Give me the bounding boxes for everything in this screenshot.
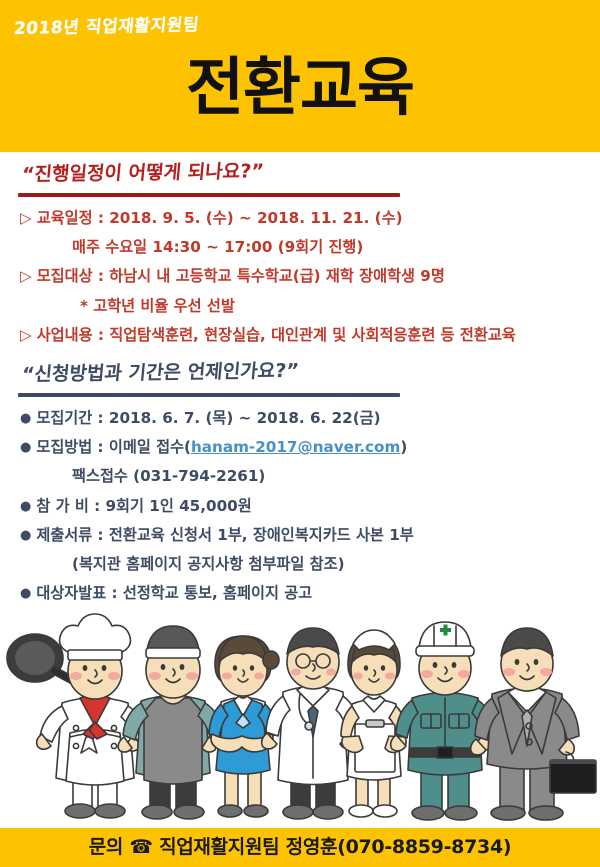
email-link[interactable]: hanam-2017@naver.com	[191, 438, 400, 456]
circle-bullet-icon: ●	[20, 587, 31, 600]
list-item: ▷교육일정 : 2018. 9. 5. (수) ~ 2018. 11. 21. …	[20, 211, 600, 226]
list-item: 매주 수요일 14:30 ~ 17:00 (9회기 진행)	[20, 240, 600, 255]
list-item: ●참 가 비 : 9회기 1인 45,000원	[20, 499, 600, 514]
section-application-lines: ●모집기간 : 2018. 6. 7. (목) ~ 2018. 6. 22(금)…	[0, 411, 600, 601]
figure-businessman	[471, 628, 596, 820]
list-item-text: 대상자발표 : 선정학교 통보, 홈페이지 공고	[36, 584, 312, 602]
list-item: ▷모집대상 : 하남시 내 고등학교 특수학교(급) 재학 장애학생 9명	[20, 269, 600, 284]
circle-bullet-icon: ●	[20, 529, 31, 542]
figure-chef	[7, 614, 146, 818]
poster-footer: 문의 ☎ 직업재활지원팀 정영훈(070-8859-8734)	[0, 828, 600, 867]
triangle-bullet-icon: ▷	[20, 211, 32, 226]
section-schedule-heading: “진행일정이 어떻게 되나요?”	[0, 152, 600, 187]
poster: 2018년 직업재활지원팀 전환교육 “진행일정이 어떻게 되나요?” ▷교육일…	[0, 0, 600, 867]
poster-header: 2018년 직업재활지원팀 전환교육	[0, 0, 600, 152]
list-item-text: * 고학년 비율 우선 선발	[80, 297, 235, 315]
list-item-text: 모집대상 : 하남시 내 고등학교 특수학교(급) 재학 장애학생 9명	[37, 267, 445, 285]
header-kicker: 2018년 직업재활지원팀	[13, 10, 201, 39]
section-application-rule	[18, 393, 400, 397]
list-item-text: 교육일정 : 2018. 9. 5. (수) ~ 2018. 11. 21. (…	[37, 209, 403, 227]
section-schedule-lines: ▷교육일정 : 2018. 9. 5. (수) ~ 2018. 11. 21. …	[0, 211, 600, 343]
figure-factory-worker	[118, 626, 223, 819]
section-schedule-rule	[18, 193, 400, 197]
list-item-email: ●모집방법 : 이메일 접수(hanam-2017@naver.com)	[20, 440, 600, 455]
list-item-text: 모집방법 : 이메일 접수(	[36, 438, 191, 456]
list-item-suffix: )	[400, 438, 407, 456]
list-item-text: 매주 수요일 14:30 ~ 17:00 (9회기 진행)	[72, 238, 363, 256]
list-item-text: (복지관 홈페이지 공지사항 첨부파일 참조)	[72, 555, 345, 573]
list-item: (복지관 홈페이지 공지사항 첨부파일 참조)	[20, 557, 600, 572]
footer-contact: 문의 ☎ 직업재활지원팀 정영훈(070-8859-8734)	[0, 828, 600, 867]
list-item: ▷사업내용 : 직업탐색훈련, 현장실습, 대인관계 및 사회적응훈련 등 전환…	[20, 328, 600, 343]
list-item-text: 참 가 비 : 9회기 1인 45,000원	[36, 497, 251, 515]
professions-illustration: .ol{stroke:#3a3a3a;stroke-width:1.6;stro…	[0, 606, 600, 831]
triangle-bullet-icon: ▷	[20, 269, 32, 284]
list-item: 팩스접수 (031-794-2261)	[20, 469, 600, 484]
section-application: “신청방법과 기간은 언제인가요?” ●모집기간 : 2018. 6. 7. (…	[0, 360, 600, 615]
list-item-text: 사업내용 : 직업탐색훈련, 현장실습, 대인관계 및 사회적응훈련 등 전환교…	[37, 326, 516, 344]
circle-bullet-icon: ●	[20, 441, 31, 454]
list-item: ●대상자발표 : 선정학교 통보, 홈페이지 공고	[20, 586, 600, 601]
circle-bullet-icon: ●	[20, 412, 31, 425]
list-item: ●모집기간 : 2018. 6. 7. (목) ~ 2018. 6. 22(금)	[20, 411, 600, 426]
list-item-text: 팩스접수 (031-794-2261)	[72, 467, 265, 485]
list-item-text: 제출서류 : 전환교육 신청서 1부, 장애인복지카드 사본 1부	[36, 526, 413, 544]
triangle-bullet-icon: ▷	[20, 328, 32, 343]
list-item-text: 모집기간 : 2018. 6. 7. (목) ~ 2018. 6. 22(금)	[36, 409, 380, 427]
list-item: * 고학년 비율 우선 선발	[20, 299, 600, 314]
page-title: 전환교육	[0, 56, 600, 119]
list-item: ●제출서류 : 전환교육 신청서 1부, 장애인복지카드 사본 1부	[20, 528, 600, 543]
section-schedule: “진행일정이 어떻게 되나요?” ▷교육일정 : 2018. 9. 5. (수)…	[0, 160, 600, 357]
circle-bullet-icon: ●	[20, 500, 31, 513]
